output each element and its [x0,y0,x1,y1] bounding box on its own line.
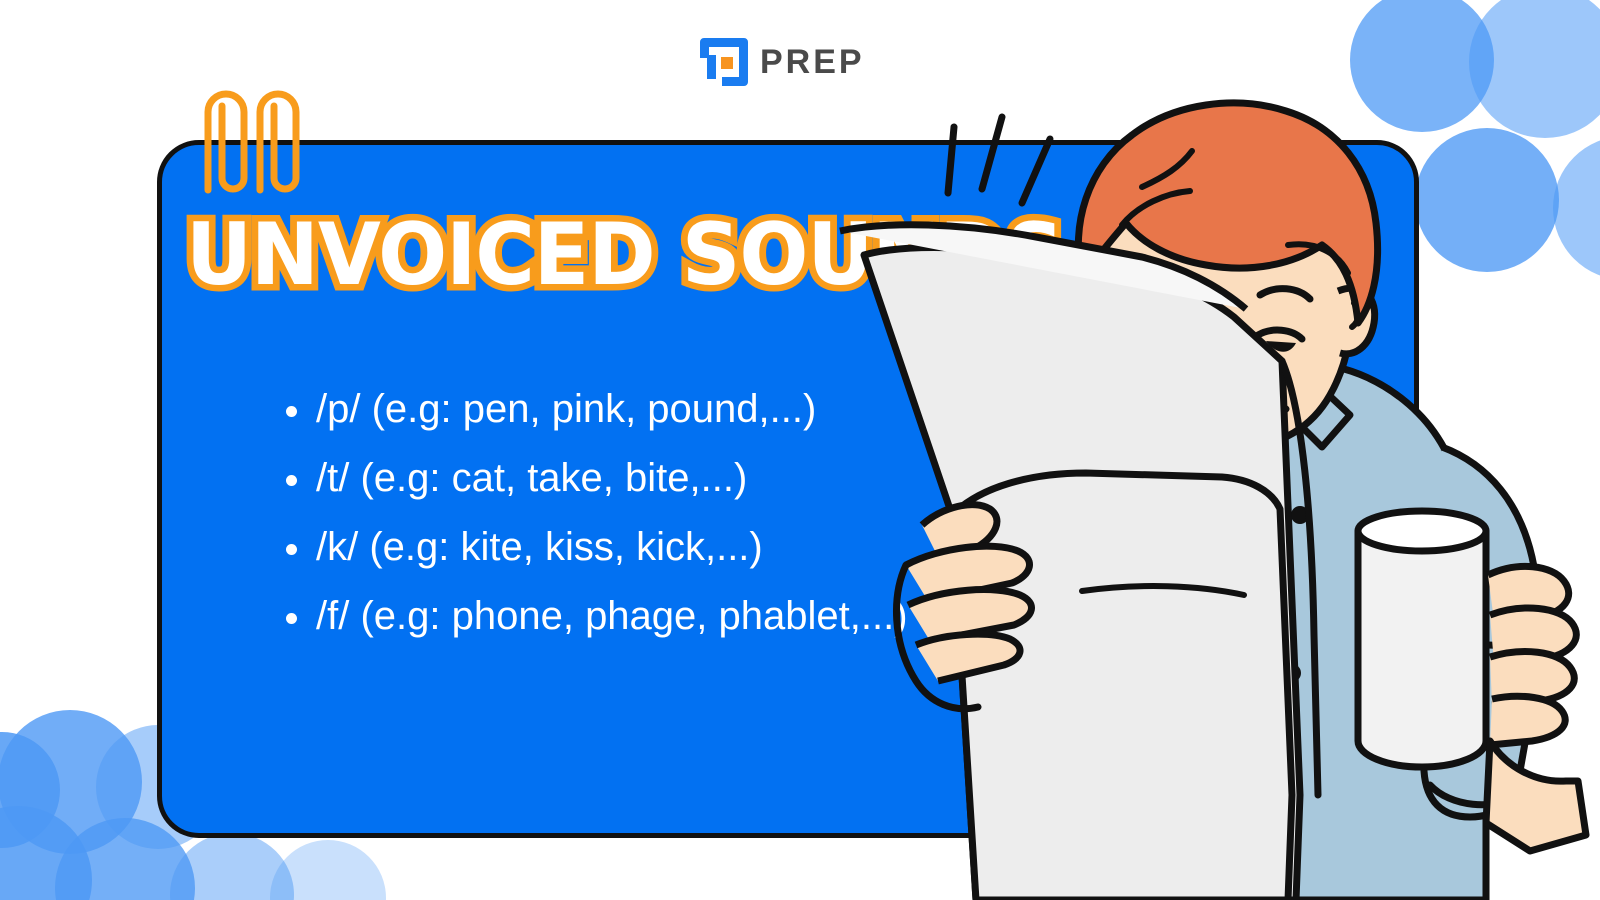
list-item: /k/ (e.g: kite, kiss, kick,...) [272,516,912,579]
right-hand [1486,566,1586,851]
motion-lines [948,117,1050,203]
list-item: /f/ (e.g: phone, phage, phablet,...) [272,585,912,648]
brand-wordmark: PREP [760,45,865,79]
infographic-canvas: PREP UNVOICED SOUNDS /p/ (e.g: pen, pink… [0,0,1600,900]
prep-logo-mark-icon [700,38,748,86]
list-item: /t/ (e.g: cat, take, bite,...) [272,447,912,510]
brand-logo: PREP [700,38,865,86]
unvoiced-sounds-list: /p/ (e.g: pen, pink, pound,...) /t/ (e.g… [272,378,912,654]
decorative-circle [270,840,386,900]
paperclip-pair-icon [178,82,318,197]
list-item: /p/ (e.g: pen, pink, pound,...) [272,378,912,441]
man-reading-newspaper-illustration [830,95,1600,900]
